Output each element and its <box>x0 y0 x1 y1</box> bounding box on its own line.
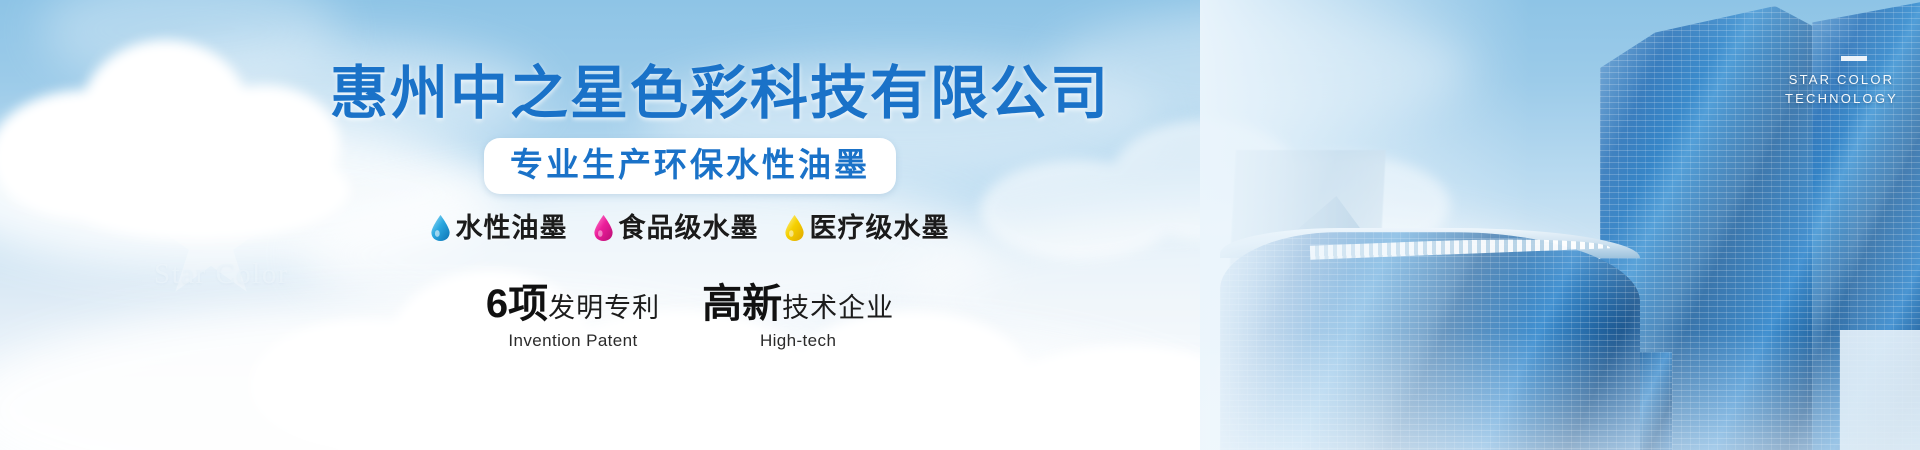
badge-highlight: 高新 <box>702 282 782 326</box>
star-icon: ★ <box>136 170 286 320</box>
feature-item: 食品级水墨 <box>594 213 759 243</box>
logo-dash-icon <box>1841 56 1867 61</box>
badge-english-line: High-tech <box>702 331 894 351</box>
badge-high-tech: 高新技术企业 High-tech <box>702 271 894 351</box>
feature-label: 医疗级水墨 <box>810 213 950 243</box>
badge-subtext: 技术企业 <box>782 293 894 323</box>
subtitle-pill-wrap: 专业生产环保水性油墨 <box>330 138 1050 194</box>
subtitle-pill: 专业生产环保水性油墨 <box>484 138 896 194</box>
water-drop-icon <box>594 215 613 241</box>
brand-mark-line2: TECHNOLOGY <box>1785 89 1898 108</box>
badge-highlight: 6项 <box>486 282 548 326</box>
badge-english-line: Invention Patent <box>486 331 660 351</box>
credential-badges: 6项发明专利 Invention Patent 高新技术企业 High-tech <box>330 271 1050 351</box>
feature-item: 医疗级水墨 <box>785 213 950 243</box>
badge-subtext: 发明专利 <box>548 293 660 323</box>
low-building <box>1840 330 1920 450</box>
glass-sheen <box>1220 232 1640 450</box>
feature-label: 水性油墨 <box>456 213 568 243</box>
promo-banner: ★ Star Color STAR COLOR TECHNOLOGY 惠州中之星… <box>0 0 1920 450</box>
badge-chinese-line: 6项发明专利 <box>486 271 660 329</box>
banner-content: 惠州中之星色彩科技有限公司 专业生产环保水性油墨 <box>330 0 1050 450</box>
company-title: 惠州中之星色彩科技有限公司 <box>330 0 1050 126</box>
feature-list: 水性油墨 <box>330 213 1050 243</box>
feature-label: 食品级水墨 <box>619 213 759 243</box>
skyscraper-photo: STAR COLOR TECHNOLOGY <box>1200 0 1920 450</box>
brand-mark-line1: STAR COLOR <box>1785 70 1898 89</box>
water-drop-icon <box>785 215 804 241</box>
curved-glass-tower <box>1220 232 1640 450</box>
building-brand-mark: STAR COLOR TECHNOLOGY <box>1785 70 1898 108</box>
water-drop-icon <box>431 215 450 241</box>
badge-invention-patent: 6项发明专利 Invention Patent <box>486 271 660 351</box>
feature-item: 水性油墨 <box>431 213 568 243</box>
badge-chinese-line: 高新技术企业 <box>702 271 894 329</box>
